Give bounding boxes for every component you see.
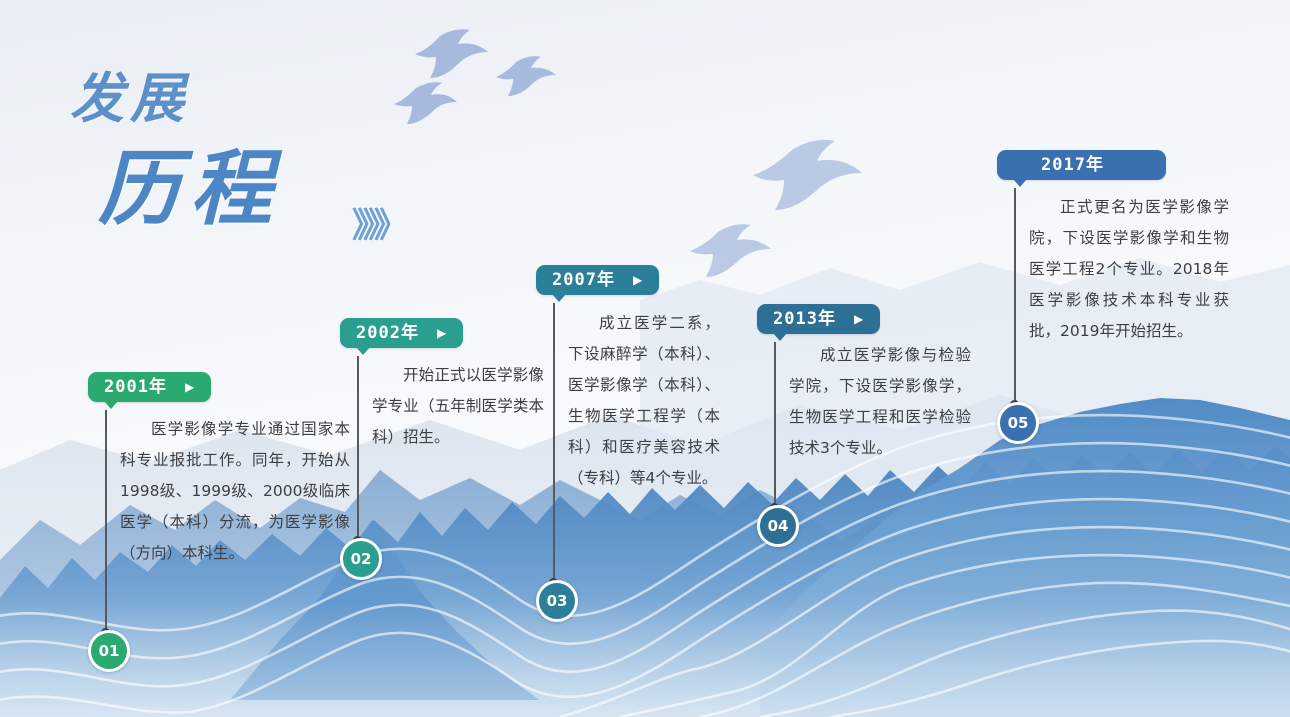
year-label-03: 2007年 [552, 270, 615, 290]
badge-tail-04 [773, 333, 787, 341]
item-text-02: 开始正式以医学影像学专业（五年制医学类本科）招生。 [372, 360, 544, 453]
timeline-item-03[interactable]: 2007年▶ [536, 265, 659, 295]
marker-circle-01[interactable]: 01 [88, 630, 130, 672]
marker-circle-02[interactable]: 02 [340, 538, 382, 580]
year-badge-02[interactable]: 2002年▶ [340, 318, 463, 348]
chevron-right-icon: 》》》 [352, 198, 402, 247]
stem-line-01 [105, 410, 107, 638]
year-badge-04[interactable]: 2013年▶ [757, 304, 880, 334]
item-text-04: 成立医学影像与检验学院，下设医学影像学，生物医学工程和医学检验技术3个专业。 [789, 340, 971, 464]
birds-left-group [394, 29, 556, 124]
year-label-05: 2017年 [1041, 155, 1104, 175]
badge-tail-05 [1013, 179, 1027, 187]
badge-tail-01 [104, 401, 118, 409]
stem-line-05 [1014, 188, 1016, 408]
marker-circle-03[interactable]: 03 [536, 580, 578, 622]
item-text-05: 正式更名为医学影像学院，下设医学影像学和生物医学工程2个专业。2018年医学影像… [1029, 192, 1229, 347]
item-text-01: 医学影像学专业通过国家本科专业报批工作。同年，开始从1998级、1999级、20… [120, 414, 350, 569]
item-text-03: 成立医学二系，下设麻醉学（本科）、医学影像学（本科）、生物医学工程学（本科）和医… [568, 308, 720, 494]
play-icon-03: ▶ [633, 265, 643, 295]
birds-right-group [690, 140, 862, 277]
badge-tail-03 [552, 294, 566, 302]
stem-line-03 [553, 303, 555, 583]
year-label-02: 2002年 [356, 323, 419, 343]
year-badge-05[interactable]: 2017年 [997, 150, 1166, 180]
page-title: 发展 历程 》》》 [62, 40, 392, 220]
marker-circle-04[interactable]: 04 [757, 505, 799, 547]
year-badge-01[interactable]: 2001年▶ [88, 372, 211, 402]
year-label-01: 2001年 [104, 377, 167, 397]
year-label-04: 2013年 [773, 309, 836, 329]
timeline-item-04[interactable]: 2013年▶ [757, 304, 880, 334]
timeline-item-05[interactable]: 2017年 [997, 150, 1166, 180]
badge-tail-02 [356, 347, 370, 355]
title-line-secondary: 历程 [98, 122, 282, 241]
play-icon-02: ▶ [437, 318, 447, 348]
year-badge-03[interactable]: 2007年▶ [536, 265, 659, 295]
timeline-item-02[interactable]: 2002年▶ [340, 318, 463, 348]
timeline-item-01[interactable]: 2001年▶ [88, 372, 211, 402]
stem-line-02 [357, 356, 359, 546]
stem-line-04 [774, 342, 776, 510]
play-icon-01: ▶ [185, 372, 195, 402]
marker-circle-05[interactable]: 05 [997, 402, 1039, 444]
slide-root: 发展 历程 》》》 2001年▶ 01 医学影像学专业通过国家本科专业报批工作。… [0, 0, 1290, 717]
play-icon-04: ▶ [854, 304, 864, 334]
